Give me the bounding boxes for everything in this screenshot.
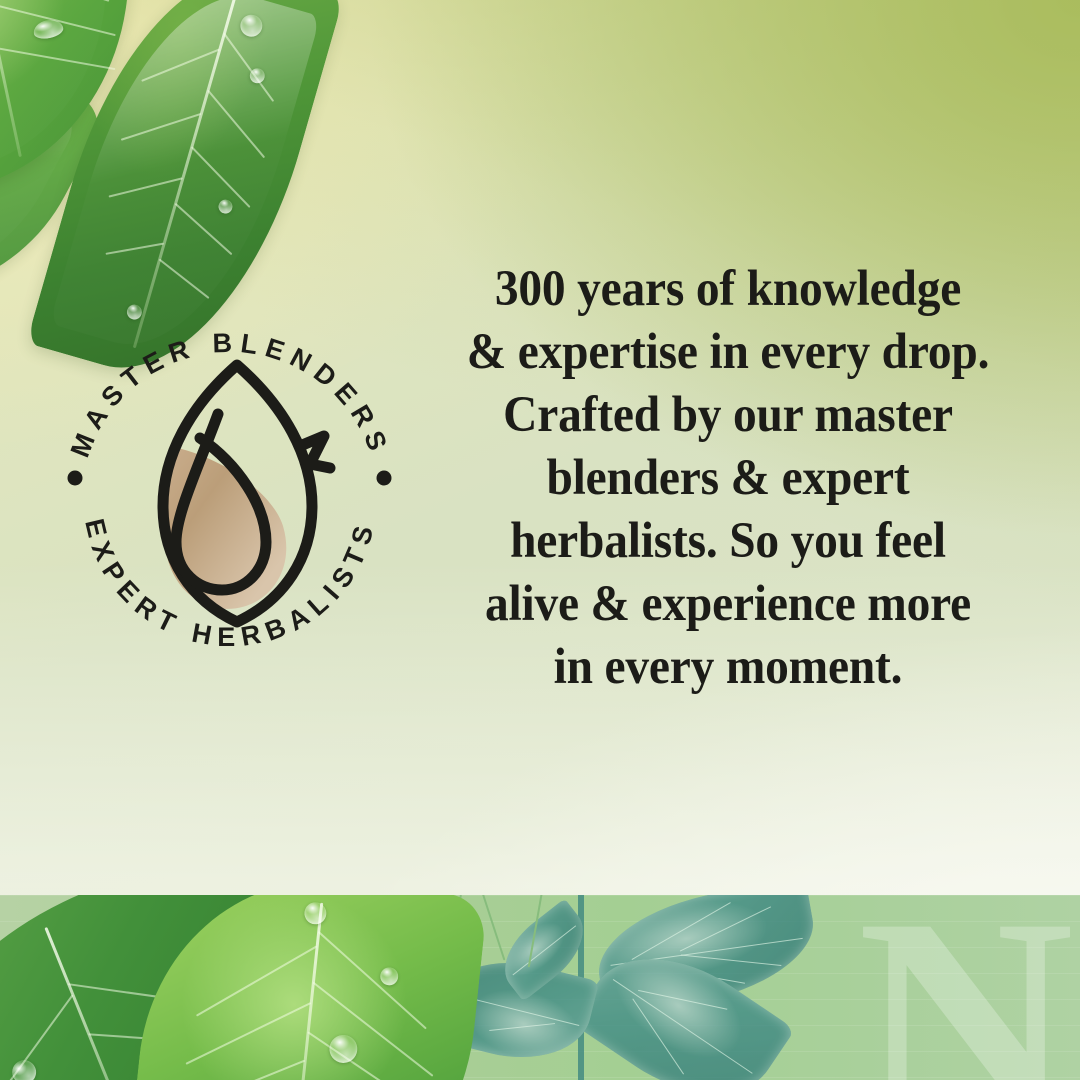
water-droplet	[9, 1057, 40, 1080]
seal-top-text: MASTER BLENDERS	[65, 328, 396, 462]
headline-line: Crafted by our master	[449, 384, 1007, 447]
headline-line: 300 years of knowledge	[449, 258, 1007, 321]
headline-line: & expertise in every drop.	[449, 321, 1007, 384]
water-droplet	[328, 1034, 359, 1065]
watermark-letter: N	[857, 895, 1068, 1080]
water-droplet	[303, 901, 327, 925]
headline-line: herbalists. So you feel	[449, 510, 1007, 573]
footer-band: N	[0, 895, 1080, 1080]
mint-leaves-photo-top	[0, 0, 350, 310]
headline-line: blenders & expert	[449, 447, 1007, 510]
seal-separator-dot-right	[377, 471, 392, 486]
headline-line: alive & experience more	[449, 573, 1007, 636]
master-blenders-seal: MASTER BLENDERS EXPERT HERBALISTS	[48, 318, 412, 682]
seal-separator-dot-left	[68, 471, 83, 486]
water-droplet	[379, 967, 399, 987]
headline-line: in every moment.	[449, 636, 1007, 699]
headline-copy: 300 years of knowledge & expertise in ev…	[449, 258, 1007, 699]
promo-banner: MASTER BLENDERS EXPERT HERBALISTS 300 ye…	[0, 0, 1080, 1080]
